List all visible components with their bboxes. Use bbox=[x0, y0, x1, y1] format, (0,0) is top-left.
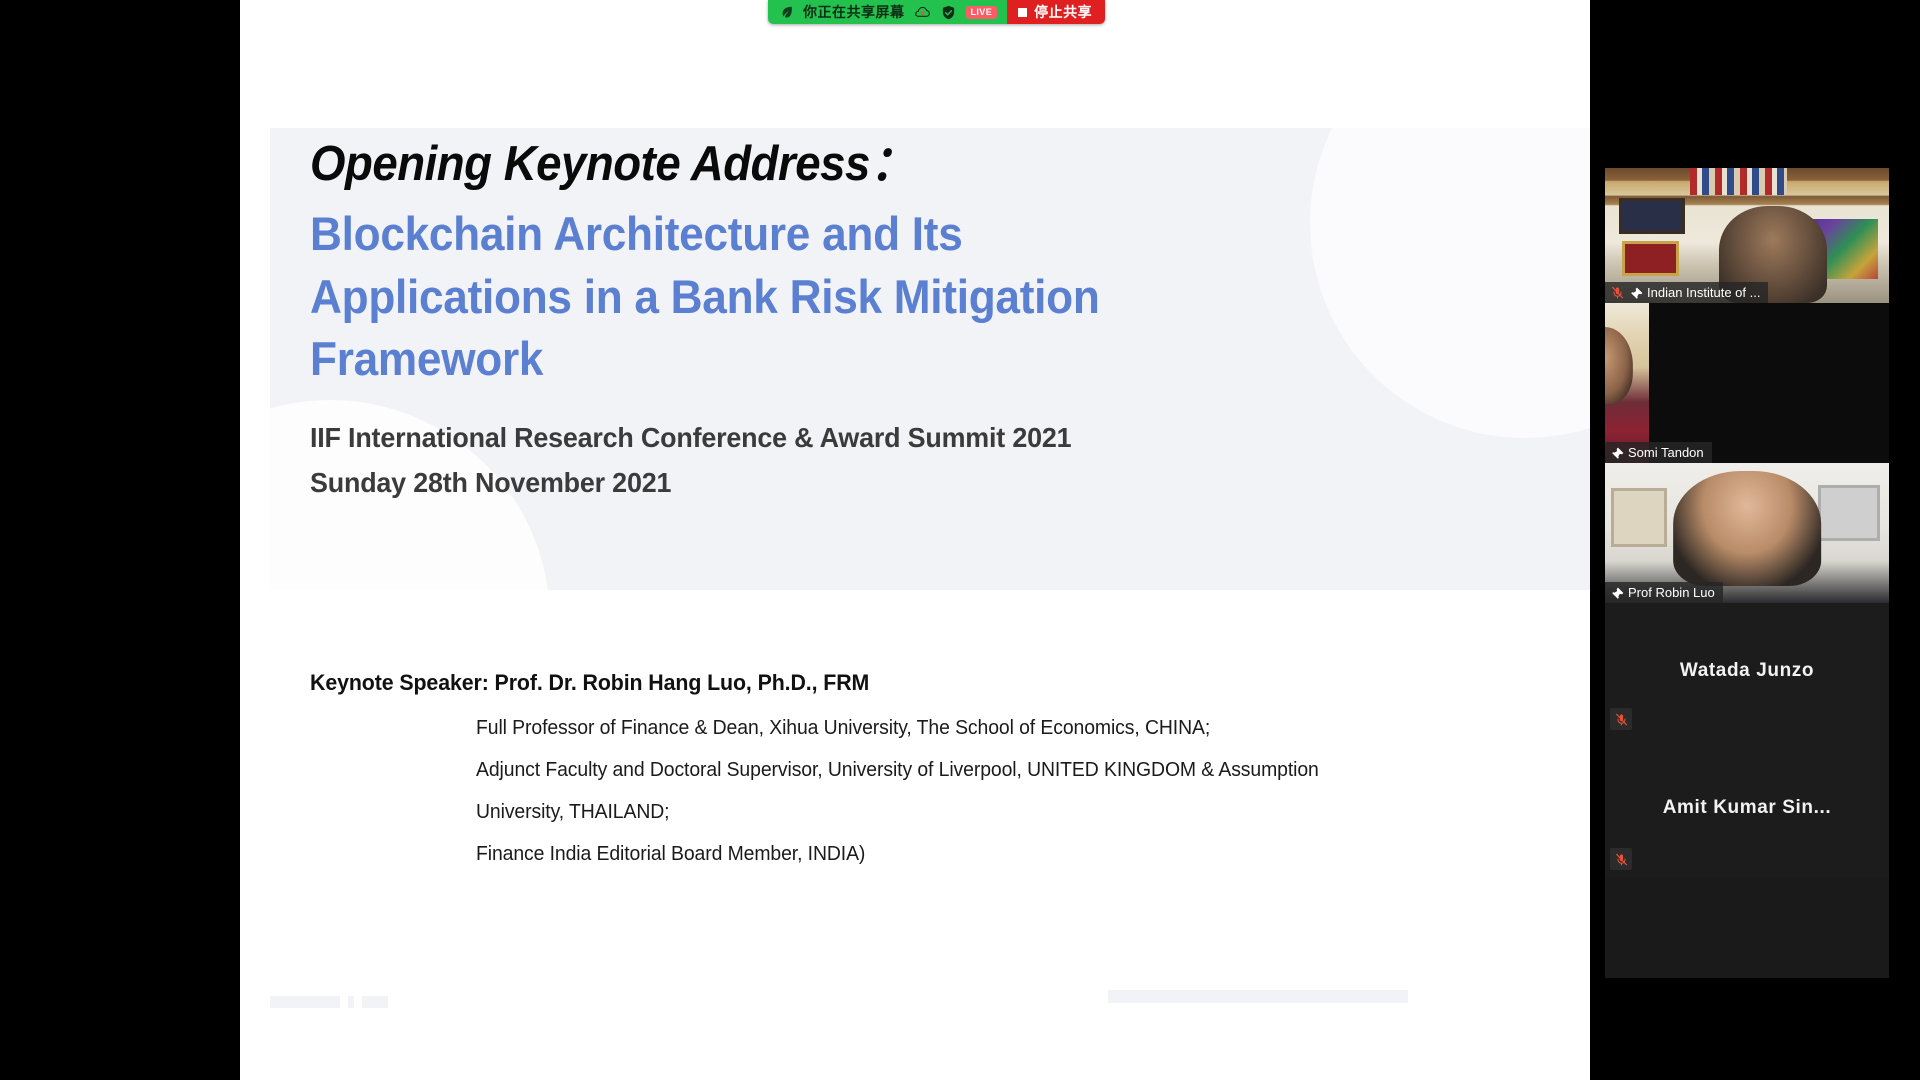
participant-tile[interactable]: Amit Kumar Sin... bbox=[1605, 738, 1889, 878]
stop-share-button[interactable]: 停止共享 bbox=[1007, 0, 1105, 24]
mic-muted-icon bbox=[1614, 852, 1629, 867]
participant-filmstrip[interactable]: Indian Institute of ... Somi Tandon bbox=[1605, 168, 1889, 978]
footer-decoration-bar bbox=[1108, 990, 1408, 1003]
participant-name: Prof Robin Luo bbox=[1628, 585, 1715, 600]
share-status-label: 你正在共享屏幕 bbox=[803, 2, 905, 22]
participant-mute-indicator[interactable] bbox=[1610, 848, 1632, 870]
video-scene-picture-frame bbox=[1818, 485, 1880, 541]
participant-tile[interactable]: Prof Robin Luo bbox=[1605, 463, 1889, 603]
shield-encryption-icon[interactable] bbox=[940, 4, 957, 21]
video-scene-picture-frame bbox=[1619, 198, 1684, 234]
pin-icon[interactable] bbox=[1610, 586, 1624, 600]
shared-slide-canvas: Opening Keynote Address： Blockchain Arch… bbox=[240, 0, 1590, 1080]
participant-tile[interactable]: Somi Tandon bbox=[1605, 303, 1889, 463]
slide-headline: Blockchain Architecture and Its Applicat… bbox=[310, 203, 1137, 391]
participant-mute-indicator[interactable] bbox=[1610, 708, 1632, 730]
footer-decoration-bar bbox=[270, 996, 340, 1008]
mic-muted-icon[interactable] bbox=[1610, 285, 1625, 300]
leaf-icon bbox=[780, 5, 794, 19]
pin-icon[interactable] bbox=[1610, 446, 1624, 460]
cloud-recording-icon[interactable] bbox=[914, 4, 931, 21]
participant-video bbox=[1605, 303, 1649, 463]
participant-name: Amit Kumar Sin... bbox=[1663, 797, 1832, 819]
zoom-shared-screen-window: Opening Keynote Address： Blockchain Arch… bbox=[0, 0, 1920, 1080]
slide-kicker: Opening Keynote Address： bbox=[310, 140, 1407, 189]
video-scene-map-poster bbox=[1792, 219, 1877, 278]
live-badge: LIVE bbox=[966, 6, 998, 19]
stop-square-icon bbox=[1018, 8, 1027, 17]
video-scene-bookshelf bbox=[1690, 168, 1787, 195]
stop-share-label: 停止共享 bbox=[1034, 2, 1092, 22]
slide-speaker-group: Keynote Speaker: Prof. Dr. Robin Hang Lu… bbox=[310, 670, 1510, 886]
participant-footer: Prof Robin Luo bbox=[1605, 582, 1723, 603]
participant-video-off-placeholder: Watada Junzo bbox=[1605, 603, 1889, 738]
mic-muted-icon bbox=[1614, 712, 1629, 727]
affiliation-line: Full Professor of Finance & Dean, Xihua … bbox=[476, 718, 1479, 738]
speaker-heading: Keynote Speaker: Prof. Dr. Robin Hang Lu… bbox=[310, 670, 1474, 696]
participant-name: Watada Junzo bbox=[1680, 660, 1814, 682]
participant-footer: Indian Institute of ... bbox=[1605, 282, 1768, 303]
participant-footer: Somi Tandon bbox=[1605, 442, 1712, 463]
slide-conference-info: IIF International Research Conference & … bbox=[310, 415, 1443, 506]
screen-share-toolbar[interactable]: 你正在共享屏幕 LIVE 停止共享 bbox=[768, 0, 1105, 24]
video-scene-plaque bbox=[1622, 241, 1679, 276]
share-status-group[interactable]: 你正在共享屏幕 LIVE bbox=[768, 0, 1007, 24]
affiliation-line: University, THAILAND; bbox=[476, 802, 1479, 822]
footer-decoration-bar bbox=[362, 996, 388, 1008]
footer-decoration-bar bbox=[348, 996, 354, 1008]
speaker-affiliations: Full Professor of Finance & Dean, Xihua … bbox=[476, 718, 1510, 864]
participant-name: Indian Institute of ... bbox=[1647, 285, 1760, 300]
conference-name: IIF International Research Conference & … bbox=[310, 415, 1443, 460]
participant-video-off-placeholder: Amit Kumar Sin... bbox=[1605, 738, 1889, 878]
participant-tile[interactable]: Indian Institute of ... bbox=[1605, 168, 1889, 303]
participant-name: Somi Tandon bbox=[1628, 445, 1704, 460]
affiliation-line: Adjunct Faculty and Doctoral Supervisor,… bbox=[476, 760, 1479, 780]
video-scene-picture-frame bbox=[1611, 488, 1668, 547]
affiliation-line: Finance India Editorial Board Member, IN… bbox=[476, 844, 1479, 864]
slide-title-group: Opening Keynote Address： Blockchain Arch… bbox=[310, 140, 1490, 505]
conference-date: Sunday 28th November 2021 bbox=[310, 460, 1443, 505]
pin-icon[interactable] bbox=[1629, 286, 1643, 300]
participant-tile[interactable]: Watada Junzo bbox=[1605, 603, 1889, 738]
